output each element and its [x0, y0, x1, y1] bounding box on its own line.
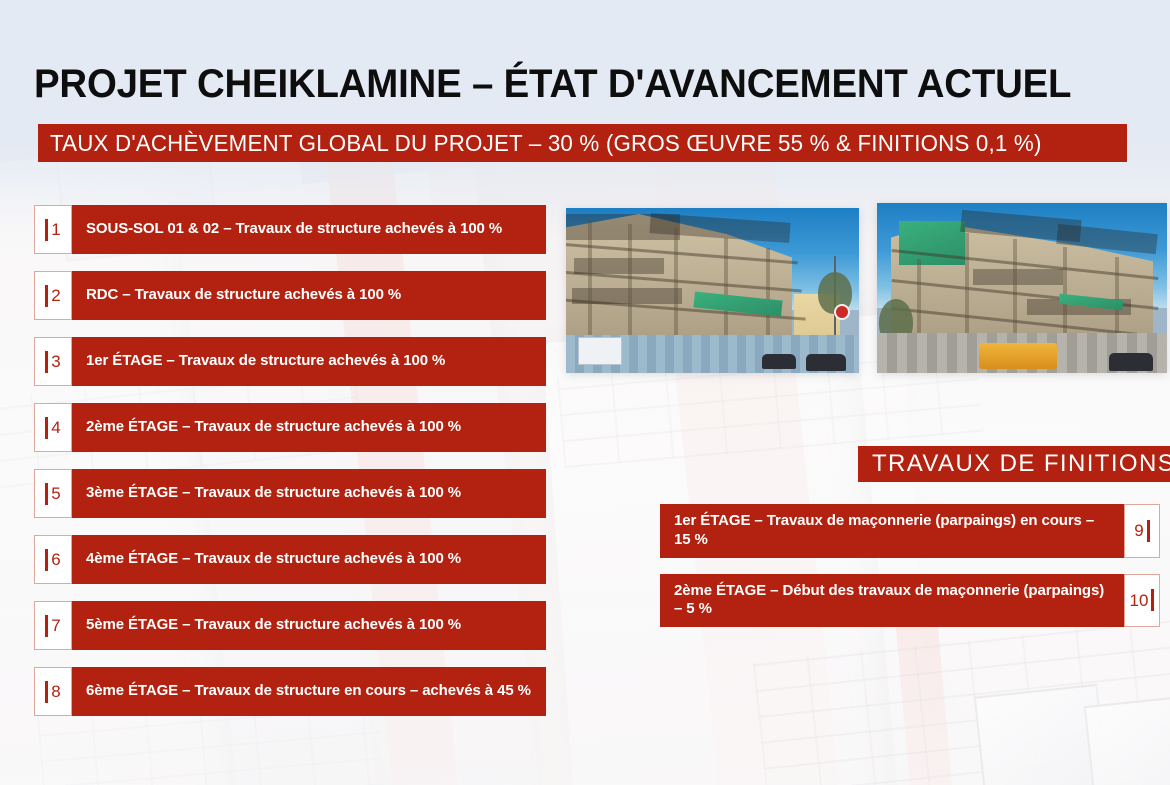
item-bar: 6ème ÉTAGE – Travaux de structure en cou… [72, 667, 546, 716]
item-bar: 3ème ÉTAGE – Travaux de structure achevé… [72, 469, 546, 518]
item-label: 6ème ÉTAGE – Travaux de structure en cou… [86, 682, 531, 701]
item-number: 2 [51, 287, 60, 304]
tick-icon [45, 219, 48, 241]
item-bar: RDC – Travaux de structure achevés à 100… [72, 271, 546, 320]
item-number: 5 [51, 485, 60, 502]
item-label: 3ème ÉTAGE – Travaux de structure achevé… [86, 484, 461, 503]
list-item[interactable]: 5 3ème ÉTAGE – Travaux de structure ache… [34, 469, 546, 518]
item-number-badge: 2 [34, 271, 72, 320]
finitions-items-list: 1er ÉTAGE – Travaux de maçonnerie (parpa… [660, 504, 1160, 643]
list-item[interactable]: 4 2ème ÉTAGE – Travaux de structure ache… [34, 403, 546, 452]
list-item[interactable]: 6 4ème ÉTAGE – Travaux de structure ache… [34, 535, 546, 584]
tick-icon [45, 483, 48, 505]
photo-bus [979, 343, 1057, 369]
list-item[interactable]: 1 SOUS-SOL 01 & 02 – Travaux de structur… [34, 205, 546, 254]
finitions-heading-text: TRAVAUX DE FINITIONS [872, 450, 1170, 478]
item-number-badge: 7 [34, 601, 72, 650]
photo-column [1013, 239, 1017, 341]
item-bar: 4ème ÉTAGE – Travaux de structure achevé… [72, 535, 546, 584]
photo-column [588, 220, 592, 348]
list-item[interactable]: 1er ÉTAGE – Travaux de maçonnerie (parpa… [660, 504, 1160, 558]
item-label: SOUS-SOL 01 & 02 – Travaux de structure … [86, 220, 502, 239]
tick-icon [45, 681, 48, 703]
item-number: 1 [51, 221, 60, 238]
tick-icon [45, 285, 48, 307]
tick-icon [45, 417, 48, 439]
finitions-heading-banner: TRAVAUX DE FINITIONS [858, 446, 1170, 482]
item-label: RDC – Travaux de structure achevés à 100… [86, 286, 401, 305]
list-item[interactable]: 8 6ème ÉTAGE – Travaux de structure en c… [34, 667, 546, 716]
page-title: PROJET CHEIKLAMINE – ÉTAT D'AVANCEMENT A… [34, 62, 1100, 107]
list-item[interactable]: 3 1er ÉTAGE – Travaux de structure achev… [34, 337, 546, 386]
item-label: 4ème ÉTAGE – Travaux de structure achevé… [86, 550, 461, 569]
presentation-slide: PROJET CHEIKLAMINE – ÉTAT D'AVANCEMENT A… [0, 0, 1170, 785]
tick-icon [1147, 520, 1150, 542]
subtitle-text: TAUX D'ACHÈVEMENT GLOBAL DU PROJET – 30 … [50, 130, 1042, 157]
item-label: 5ème ÉTAGE – Travaux de structure achevé… [86, 616, 461, 635]
subtitle-banner: TAUX D'ACHÈVEMENT GLOBAL DU PROJET – 30 … [38, 124, 1127, 162]
item-label: 2ème ÉTAGE – Début des travaux de maçonn… [674, 582, 1114, 620]
photo-stop-sign-icon [834, 304, 850, 320]
photo-column [674, 228, 678, 350]
photo-slab-shadow [973, 269, 1063, 285]
item-number-badge: 9 [1124, 504, 1160, 558]
construction-site-photo-right [877, 203, 1167, 373]
photo-car [806, 354, 846, 371]
item-number: 8 [51, 683, 60, 700]
item-number: 3 [51, 353, 60, 370]
photo-site-sign [578, 337, 622, 365]
item-label: 1er ÉTAGE – Travaux de maçonnerie (parpa… [674, 512, 1114, 550]
tick-icon [45, 549, 48, 571]
item-number-badge: 5 [34, 469, 72, 518]
list-item[interactable]: 7 5ème ÉTAGE – Travaux de structure ache… [34, 601, 546, 650]
item-number-badge: 1 [34, 205, 72, 254]
photo-car [1109, 353, 1153, 371]
item-number: 7 [51, 617, 60, 634]
item-number-badge: 4 [34, 403, 72, 452]
item-label: 1er ÉTAGE – Travaux de structure achevés… [86, 352, 445, 371]
item-number-badge: 3 [34, 337, 72, 386]
tick-icon [45, 615, 48, 637]
item-bar: SOUS-SOL 01 & 02 – Travaux de structure … [72, 205, 546, 254]
item-number: 6 [51, 551, 60, 568]
list-item[interactable]: 2ème ÉTAGE – Début des travaux de maçonn… [660, 574, 1160, 628]
item-bar: 5ème ÉTAGE – Travaux de structure achevé… [72, 601, 546, 650]
item-number: 4 [51, 419, 60, 436]
tick-icon [1151, 589, 1154, 611]
construction-site-photo-left [566, 208, 859, 373]
structure-items-list: 1 SOUS-SOL 01 & 02 – Travaux de structur… [34, 205, 546, 733]
photo-column [917, 259, 921, 337]
photo-car [762, 354, 796, 369]
item-bar: 1er ÉTAGE – Travaux de maçonnerie (parpa… [660, 504, 1124, 558]
list-item[interactable]: 2 RDC – Travaux de structure achevés à 1… [34, 271, 546, 320]
item-bar: 1er ÉTAGE – Travaux de structure achevés… [72, 337, 546, 386]
item-number: 10 [1130, 592, 1149, 609]
tick-icon [45, 351, 48, 373]
item-number: 9 [1134, 522, 1143, 539]
photo-column [628, 224, 632, 350]
item-number-badge: 8 [34, 667, 72, 716]
item-bar: 2ème ÉTAGE – Travaux de structure achevé… [72, 403, 546, 452]
item-number-badge: 10 [1124, 574, 1160, 628]
item-bar: 2ème ÉTAGE – Début des travaux de maçonn… [660, 574, 1124, 628]
photo-column [965, 233, 969, 339]
item-number-badge: 6 [34, 535, 72, 584]
item-label: 2ème ÉTAGE – Travaux de structure achevé… [86, 418, 461, 437]
